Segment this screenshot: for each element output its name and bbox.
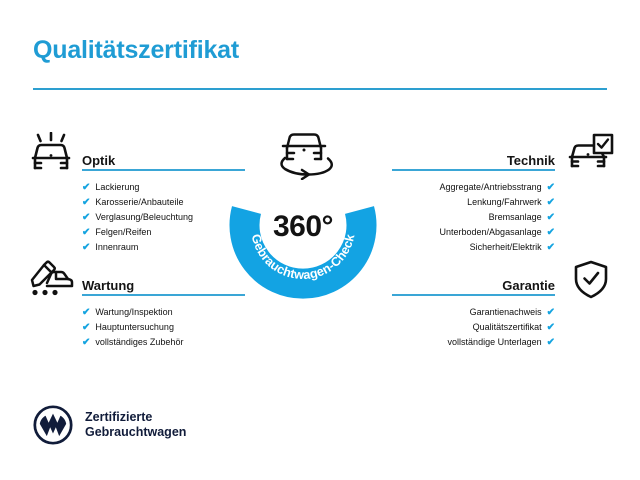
list-item-label: Qualitätszertifikat: [473, 320, 542, 335]
section-optik-header: Optik: [82, 145, 193, 171]
section-optik-title: Optik: [82, 153, 115, 168]
check-icon: ✔: [547, 308, 555, 318]
list-item: ✔vollständiges Zubehör: [82, 335, 183, 350]
list-item: Unterboden/Abgasanlage✔: [392, 225, 555, 240]
list-item-label: Unterboden/Abgasanlage: [440, 225, 542, 240]
section-garantie-divider: [392, 294, 555, 296]
certificate-page: Qualitätszertifikat Optik ✔Lackierung ✔K…: [0, 0, 640, 480]
list-item-label: Aggregate/Antriebsstrang: [440, 180, 542, 195]
list-item: Aggregate/Antriebsstrang✔: [392, 180, 555, 195]
list-item: ✔Wartung/Inspektion: [82, 305, 183, 320]
check-icon: ✔: [547, 213, 555, 223]
list-item: Qualitätszertifikat✔: [392, 320, 555, 335]
section-technik-title: Technik: [507, 153, 555, 168]
list-item: Sicherheit/Elektrik✔: [392, 240, 555, 255]
list-item-label: Lenkung/Fahrwerk: [467, 195, 542, 210]
car-rotation-icon: [268, 124, 340, 180]
list-item-label: Garantienachweis: [470, 305, 542, 320]
check-icon: ✔: [82, 323, 90, 333]
check-icon: ✔: [547, 323, 555, 333]
title-divider: [33, 88, 607, 90]
shield-check-icon: [572, 259, 610, 306]
check-icon: ✔: [547, 183, 555, 193]
list-item-label: Bremsanlage: [489, 210, 542, 225]
section-technik-divider: [392, 169, 555, 171]
section-optik: Optik ✔Lackierung ✔Karosserie/Anbauteile…: [82, 145, 193, 255]
list-item: vollständige Unterlagen✔: [392, 335, 555, 350]
page-title: Qualitätszertifikat: [33, 36, 239, 65]
car-checkbox-icon: [566, 133, 614, 180]
list-item-label: Hauptuntersuchung: [95, 320, 174, 335]
check-icon: ✔: [82, 198, 90, 208]
section-wartung-title: Wartung: [82, 278, 134, 293]
list-item-label: Karosserie/Anbauteile: [95, 195, 183, 210]
section-garantie-header: Garantie: [392, 270, 555, 296]
check-icon: ✔: [547, 243, 555, 253]
list-item-label: Verglasung/Beleuchtung: [95, 210, 193, 225]
volkswagen-logo: [33, 405, 73, 445]
list-item: Lenkung/Fahrwerk✔: [392, 195, 555, 210]
check-icon: ✔: [547, 228, 555, 238]
list-item-label: Innenraum: [95, 240, 138, 255]
list-item-label: Sicherheit/Elektrik: [470, 240, 542, 255]
section-wartung-list: ✔Wartung/Inspektion ✔Hauptuntersuchung ✔…: [82, 305, 183, 350]
list-item: ✔Innenraum: [82, 240, 193, 255]
pen-car-service-icon: [27, 258, 75, 305]
section-wartung: Wartung ✔Wartung/Inspektion ✔Hauptunters…: [82, 270, 183, 350]
section-technik: Technik Aggregate/Antriebsstrang✔ Lenkun…: [392, 145, 555, 255]
footer-brand: Zertifizierte Gebrauchtwagen: [33, 405, 186, 445]
list-item-label: vollständiges Zubehör: [95, 335, 183, 350]
brand-line-2: Gebrauchtwagen: [85, 425, 186, 440]
check-icon: ✔: [547, 198, 555, 208]
list-item-label: vollständige Unterlagen: [448, 335, 542, 350]
section-technik-header: Technik: [392, 145, 555, 171]
list-item: ✔Verglasung/Beleuchtung: [82, 210, 193, 225]
list-item: ✔Karosserie/Anbauteile: [82, 195, 193, 210]
list-item: Garantienachweis✔: [392, 305, 555, 320]
check-icon: ✔: [82, 338, 90, 348]
list-item-label: Wartung/Inspektion: [95, 305, 172, 320]
check-icon: ✔: [82, 243, 90, 253]
section-garantie-list: Garantienachweis✔ Qualitätszertifikat✔ v…: [392, 305, 555, 350]
car-shine-icon: [27, 132, 75, 181]
list-item: ✔Hauptuntersuchung: [82, 320, 183, 335]
list-item: ✔Lackierung: [82, 180, 193, 195]
list-item: Bremsanlage✔: [392, 210, 555, 225]
check-icon: ✔: [82, 183, 90, 193]
list-item: ✔Felgen/Reifen: [82, 225, 193, 240]
section-wartung-divider: [82, 294, 245, 296]
brand-text: Zertifizierte Gebrauchtwagen: [85, 410, 186, 440]
check-icon: ✔: [82, 228, 90, 238]
section-technik-list: Aggregate/Antriebsstrang✔ Lenkung/Fahrwe…: [392, 180, 555, 255]
check-icon: ✔: [82, 308, 90, 318]
section-garantie-title: Garantie: [502, 278, 555, 293]
brand-line-1: Zertifizierte: [85, 410, 186, 425]
list-item-label: Lackierung: [95, 180, 139, 195]
section-optik-list: ✔Lackierung ✔Karosserie/Anbauteile ✔Verg…: [82, 180, 193, 255]
section-optik-divider: [82, 169, 245, 171]
check-icon: ✔: [547, 338, 555, 348]
section-garantie: Garantie Garantienachweis✔ Qualitätszert…: [392, 270, 555, 350]
section-wartung-header: Wartung: [82, 270, 183, 296]
list-item-label: Felgen/Reifen: [95, 225, 151, 240]
check-icon: ✔: [82, 213, 90, 223]
